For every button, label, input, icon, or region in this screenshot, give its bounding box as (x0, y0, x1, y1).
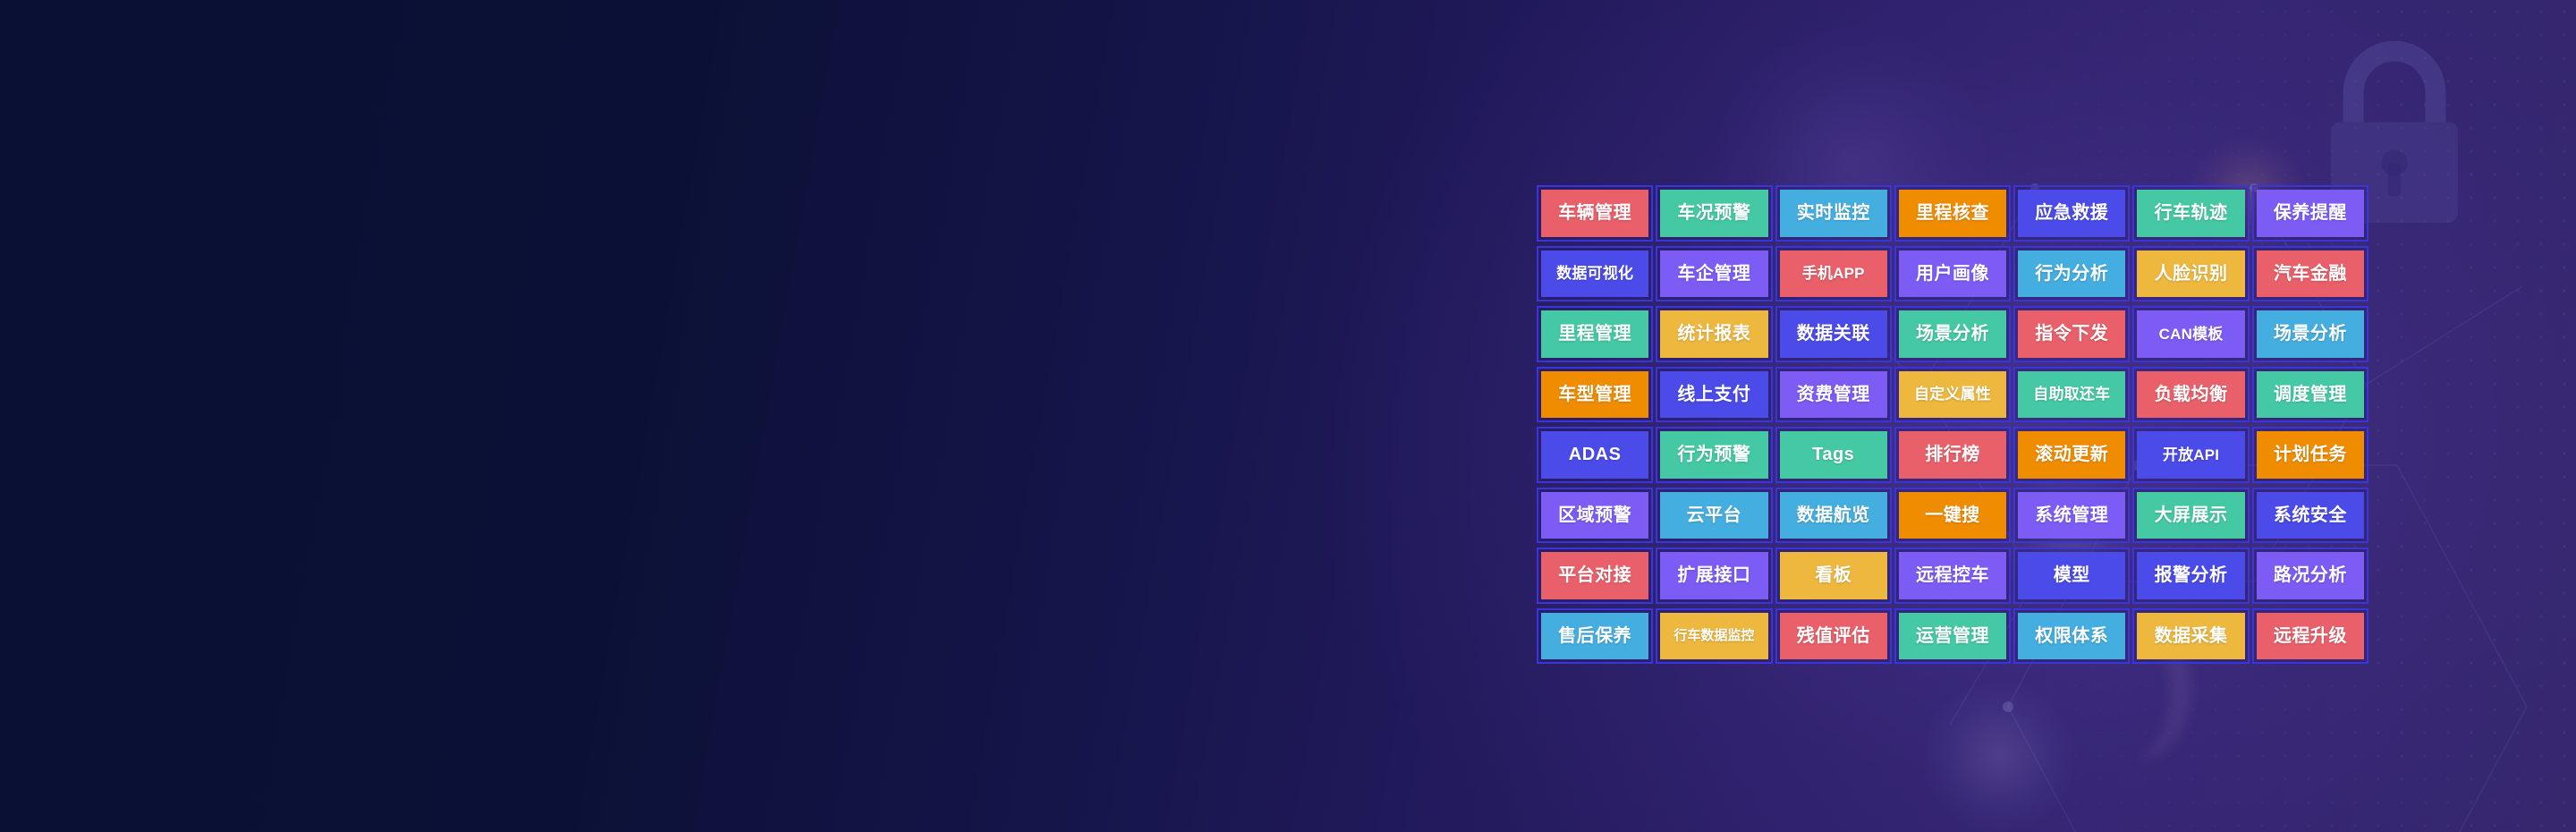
tile[interactable]: 报警分析 (2132, 548, 2249, 604)
tile[interactable]: 用户画像 (1894, 246, 2011, 302)
tile-label: 路况分析 (2257, 552, 2364, 599)
tile[interactable]: 里程核查 (1894, 185, 2011, 242)
tile-label: 资费管理 (1780, 371, 1887, 419)
tile-label: 模型 (2018, 552, 2125, 599)
tile[interactable]: 数据可视化 (1537, 246, 1653, 302)
tile[interactable]: 指令下发 (2013, 306, 2130, 362)
tile-label: 看板 (1780, 552, 1887, 599)
tile[interactable]: 场景分析 (1894, 306, 2011, 362)
tile-label: 系统管理 (2018, 492, 2125, 539)
tile[interactable]: 负载均衡 (2132, 367, 2249, 423)
tile-label: 行车数据监控 (1660, 613, 1767, 660)
tile-label: 远程升级 (2257, 613, 2364, 660)
tile[interactable]: 实时监控 (1775, 185, 1892, 242)
tile[interactable]: Tags (1775, 427, 1892, 483)
tile-label: 一键搜 (1899, 492, 2006, 539)
tile-label: 车型管理 (1541, 371, 1648, 419)
tile-label: 大屏展示 (2137, 492, 2244, 539)
tile[interactable]: 路况分析 (2252, 548, 2368, 604)
tile-label: 用户画像 (1899, 250, 2006, 298)
tile-label: CAN模板 (2137, 310, 2244, 358)
tile[interactable]: 平台对接 (1537, 548, 1653, 604)
tile-label: 扩展接口 (1660, 552, 1767, 599)
tile-label: 手机APP (1780, 250, 1887, 298)
tile-label: Tags (1780, 431, 1887, 479)
tile-label: 计划任务 (2257, 431, 2364, 479)
tile-label: 数据可视化 (1541, 250, 1648, 298)
tile-label: 平台对接 (1541, 552, 1648, 599)
tile[interactable]: 保养提醒 (2252, 185, 2368, 242)
tile[interactable]: 自定义属性 (1894, 367, 2011, 423)
tile[interactable]: 大屏展示 (2132, 488, 2249, 544)
tile-label: 滚动更新 (2018, 431, 2125, 479)
tile[interactable]: 手机APP (1775, 246, 1892, 302)
tile[interactable]: 远程控车 (1894, 548, 2011, 604)
tile-label: 售后保养 (1541, 613, 1648, 660)
tile-label: 车况预警 (1660, 190, 1767, 237)
tile[interactable]: 行为分析 (2013, 246, 2130, 302)
tile[interactable]: 模型 (2013, 548, 2130, 604)
tile[interactable]: 车型管理 (1537, 367, 1653, 423)
tile-label: 远程控车 (1899, 552, 2006, 599)
tile[interactable]: 行为预警 (1656, 427, 1772, 483)
tile-label: 区域预警 (1541, 492, 1648, 539)
tile[interactable]: 一键搜 (1894, 488, 2011, 544)
tile[interactable]: 数据航览 (1775, 488, 1892, 544)
tile[interactable]: 区域预警 (1537, 488, 1653, 544)
tile-label: 数据关联 (1780, 310, 1887, 358)
tile[interactable]: 汽车金融 (2252, 246, 2368, 302)
tile[interactable]: 权限体系 (2013, 608, 2130, 665)
tile[interactable]: 计划任务 (2252, 427, 2368, 483)
tile[interactable]: 应急救援 (2013, 185, 2130, 242)
tile[interactable]: 远程升级 (2252, 608, 2368, 665)
tile[interactable]: 行车轨迹 (2132, 185, 2249, 242)
tile-label: 系统安全 (2257, 492, 2364, 539)
tile[interactable]: ADAS (1537, 427, 1653, 483)
tile[interactable]: 排行榜 (1894, 427, 2011, 483)
tile[interactable]: 自助取还车 (2013, 367, 2130, 423)
tile-label: 应急救援 (2018, 190, 2125, 237)
tile[interactable]: 调度管理 (2252, 367, 2368, 423)
capability-tile-grid: 车辆管理车况预警实时监控里程核查应急救援行车轨迹保养提醒数据可视化车企管理手机A… (1537, 185, 2368, 507)
tile-label: 行为分析 (2018, 250, 2125, 298)
tile-label: 运营管理 (1899, 613, 2006, 660)
tile[interactable]: 场景分析 (2252, 306, 2368, 362)
tile-label: 场景分析 (1899, 310, 2006, 358)
tile-label: 里程管理 (1541, 310, 1648, 358)
tile[interactable]: CAN模板 (2132, 306, 2249, 362)
tile-label: 保养提醒 (2257, 190, 2364, 237)
tile[interactable]: 车企管理 (1656, 246, 1772, 302)
tile-label: 场景分析 (2257, 310, 2364, 358)
tile-label: 残值评估 (1780, 613, 1887, 660)
tile-label: 自定义属性 (1899, 371, 2006, 419)
tile[interactable]: 行车数据监控 (1656, 608, 1772, 665)
tile[interactable]: 残值评估 (1775, 608, 1892, 665)
tile[interactable]: 看板 (1775, 548, 1892, 604)
tile-label: 开放API (2137, 431, 2244, 479)
tile-label: 统计报表 (1660, 310, 1767, 358)
tile[interactable]: 车辆管理 (1537, 185, 1653, 242)
tile[interactable]: 数据采集 (2132, 608, 2249, 665)
tile[interactable]: 线上支付 (1656, 367, 1772, 423)
tile[interactable]: 开放API (2132, 427, 2249, 483)
tile[interactable]: 人脸识别 (2132, 246, 2249, 302)
tile[interactable]: 系统安全 (2252, 488, 2368, 544)
tile[interactable]: 滚动更新 (2013, 427, 2130, 483)
tile[interactable]: 里程管理 (1537, 306, 1653, 362)
tile-label: 行车轨迹 (2137, 190, 2244, 237)
tile-label: 自助取还车 (2018, 371, 2125, 419)
tile-label: 汽车金融 (2257, 250, 2364, 298)
tile[interactable]: 数据关联 (1775, 306, 1892, 362)
tile-label: 云平台 (1660, 492, 1767, 539)
tile-label: 报警分析 (2137, 552, 2244, 599)
tile-label: 排行榜 (1899, 431, 2006, 479)
tile-label: 车辆管理 (1541, 190, 1648, 237)
tile-label: 数据采集 (2137, 613, 2244, 660)
tile[interactable]: 统计报表 (1656, 306, 1772, 362)
tile[interactable]: 系统管理 (2013, 488, 2130, 544)
tile-label: 权限体系 (2018, 613, 2125, 660)
tile-label: 指令下发 (2018, 310, 2125, 358)
tile[interactable]: 售后保养 (1537, 608, 1653, 665)
tile[interactable]: 扩展接口 (1656, 548, 1772, 604)
tile-label: 负载均衡 (2137, 371, 2244, 419)
tile-label: 行为预警 (1660, 431, 1767, 479)
tile[interactable]: 资费管理 (1775, 367, 1892, 423)
tile[interactable]: 运营管理 (1894, 608, 2011, 665)
node-glow-bottom (1923, 680, 2075, 832)
tile-label: 实时监控 (1780, 190, 1887, 237)
tile-label: 数据航览 (1780, 492, 1887, 539)
tile[interactable]: 车况预警 (1656, 185, 1772, 242)
tile-label: 车企管理 (1660, 250, 1767, 298)
tile[interactable]: 云平台 (1656, 488, 1772, 544)
tile-label: 线上支付 (1660, 371, 1767, 419)
tile-label: 人脸识别 (2137, 250, 2244, 298)
tile-label: ADAS (1541, 431, 1648, 479)
tile-label: 里程核查 (1899, 190, 2006, 237)
tile-label: 调度管理 (2257, 371, 2364, 419)
